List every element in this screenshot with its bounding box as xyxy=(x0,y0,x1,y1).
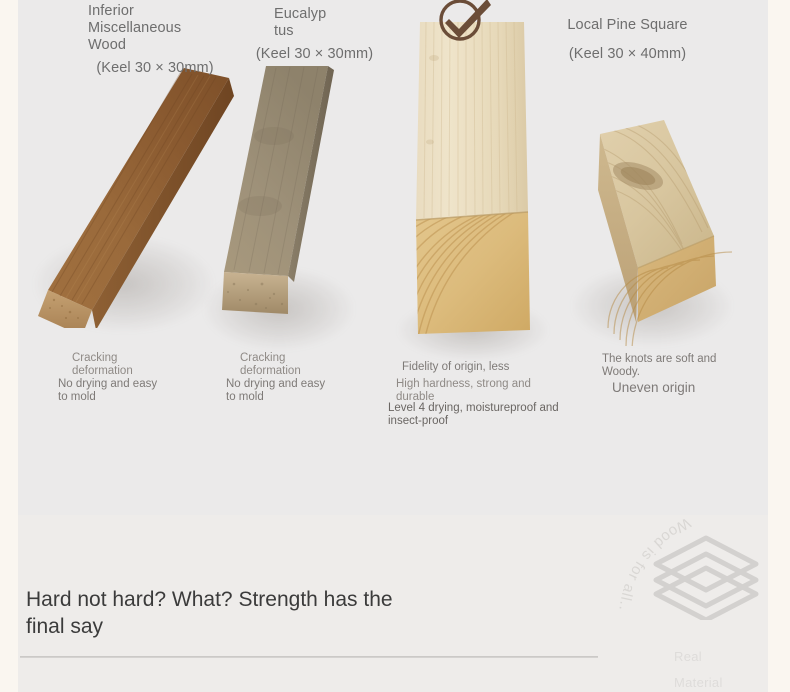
wood-sample-inferior-miscellaneous xyxy=(24,68,234,328)
caption-level-4-drying: Level 4 drying, moistureproof and insect… xyxy=(388,402,588,428)
column-keel-spec: (Keel 30 × 30mm) xyxy=(232,46,397,63)
caption-no-drying-2: No drying and easy to mold xyxy=(226,378,376,404)
wood-sample-recommended-pine xyxy=(410,22,536,342)
caption-knots-are-soft: The knots are soft and Woody. xyxy=(602,353,762,379)
page-root: Inferior Miscellaneous Wood (Keel 30 × 3… xyxy=(0,0,790,692)
caption-no-drying-1: No drying and easy to mold xyxy=(58,378,208,404)
column-title: Eucalyp tus xyxy=(274,6,352,40)
caption-high-hardness: High hardness, strong and durable xyxy=(396,378,596,404)
watermark-label-real: Real xyxy=(674,649,702,664)
column-keel-spec: (Keel 30 × 40mm) xyxy=(520,46,735,63)
section-divider xyxy=(20,656,598,658)
caption-uneven-origin: Uneven origin xyxy=(612,380,772,396)
caption-cracking-deformation-1: Cracking deformation xyxy=(72,352,202,378)
watermark-label-material: Material xyxy=(674,675,723,690)
wood-sample-eucalyptus xyxy=(204,66,364,328)
page-headline: Hard not hard? What? Strength has the fi… xyxy=(26,586,456,640)
column-keel-spec: (Keel 30 × 30mm) xyxy=(60,60,250,77)
column-title: Local Pine Square xyxy=(520,17,735,34)
layered-diamond-stack-icon xyxy=(648,532,764,620)
column-header-local-pine-square: Local Pine Square (Keel 30 × 40mm) xyxy=(520,17,735,63)
wood-sample-local-pine-square xyxy=(586,116,736,346)
check-circle-icon xyxy=(434,0,494,46)
caption-fidelity-of-origin: Fidelity of origin, less xyxy=(402,361,592,374)
caption-cracking-deformation-2: Cracking deformation xyxy=(240,352,370,378)
column-title: Inferior Miscellaneous Wood xyxy=(88,3,208,54)
column-header-inferior-miscellaneous-wood: Inferior Miscellaneous Wood (Keel 30 × 3… xyxy=(60,3,250,77)
column-header-eucalyptus: Eucalyp tus (Keel 30 × 30mm) xyxy=(232,6,397,63)
